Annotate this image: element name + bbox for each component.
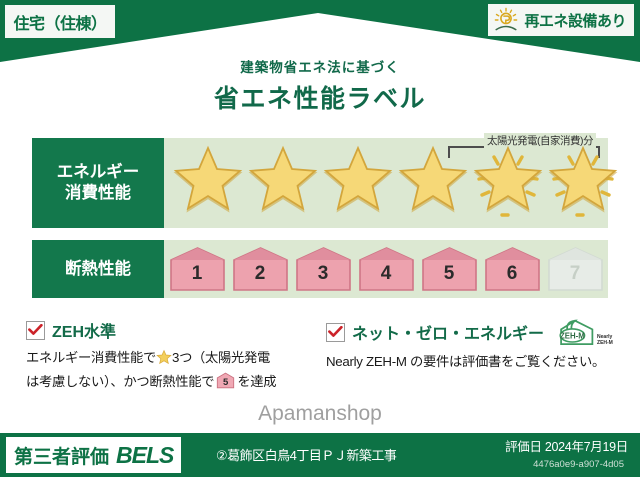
insulation-grade-house-on: 5 <box>419 246 480 292</box>
zeh-standard-panel: ZEH水準 エネルギー消費性能で3つ（太陽光発電 は考慮しない）、かつ断熱性能で… <box>26 318 316 404</box>
insulation-grade-number: 5 <box>419 263 480 285</box>
label-title-block: 建築物省エネ法に基づく 省エネ性能ラベル <box>0 56 640 115</box>
energy-row-label-line2: 消費性能 <box>65 183 131 204</box>
zeh-m-badge-sub: Nearly ZEH-M <box>597 335 613 346</box>
zeh-standard-title: ZEH水準 <box>52 318 116 342</box>
inline-grade-house-icon: 5 <box>216 372 235 388</box>
building-type-badge: 住宅（住棟） <box>5 5 115 38</box>
insulation-grade-number: 4 <box>356 263 417 285</box>
inline-star-icon <box>156 349 172 372</box>
insulation-grade-house-on: 1 <box>167 246 228 292</box>
star-icon <box>322 145 395 221</box>
insulation-grade-scale: 1234567 <box>164 240 608 298</box>
star-rating <box>172 138 616 228</box>
energy-performance-label: 住宅（住棟） 再エネ設備あり 建築物省エネ法に基づく <box>0 0 640 477</box>
zeh-m-house-icon: ZEH-M <box>555 318 595 346</box>
star-icon <box>397 145 470 221</box>
bels-jp-label: 第三者評価 <box>14 442 109 469</box>
building-type-badge-label: 住宅（住棟） <box>13 10 106 34</box>
evaluation-id: 4476a0e9-a907-4d05 <box>533 459 624 470</box>
energy-row-body: 太陽光発電(自家消費)分 <box>164 138 608 228</box>
insulation-row-label: 断熱性能 <box>32 240 164 298</box>
insulation-row-label-text: 断熱性能 <box>65 259 131 280</box>
label-footer: 第三者評価 BELS ②葛飾区白鳥4丁目ＰＪ新築工事 評価日 2024年7月19… <box>0 433 640 477</box>
net-zero-body: Nearly ZEH-M の要件は評価書をご覧ください。 <box>326 352 616 373</box>
evaluation-date: 評価日 2024年7月19日 <box>505 436 628 455</box>
insulation-grade-number: 1 <box>167 263 228 285</box>
star-solar-icon <box>547 145 620 221</box>
net-zero-header: ネット・ゼロ・エネルギー ZEH-M Nearly ZEH-M <box>326 318 616 346</box>
zeh-body-part2: 3つ（太陽光発電 <box>172 350 270 365</box>
watermark: Apamanshop <box>0 402 640 426</box>
insulation-grade-number: 6 <box>482 263 543 285</box>
check-icon <box>28 324 43 336</box>
star-icon <box>247 145 320 221</box>
energy-row-label-line1: エネルギー <box>57 162 140 183</box>
label-main-title: 省エネ性能ラベル <box>0 79 640 115</box>
insulation-grade-house-off: 7 <box>545 246 606 292</box>
star-solar-icon <box>472 145 545 221</box>
star-icon <box>172 145 245 221</box>
zeh-m-badge: ZEH-M Nearly ZEH-M <box>555 318 613 346</box>
renewable-badge-label: 再エネ設備あり <box>524 10 626 31</box>
zeh-body-part1: エネルギー消費性能で <box>26 350 156 365</box>
sun-solar-icon <box>492 6 520 34</box>
insulation-performance-row: 断熱性能 1234567 <box>32 240 608 298</box>
bels-en-label: BELS <box>116 442 173 469</box>
net-zero-energy-panel: ネット・ゼロ・エネルギー ZEH-M Nearly ZEH-M Nearly Z… <box>326 318 616 404</box>
zeh-m-sub-line2: ZEH-M <box>597 340 613 346</box>
zeh-body-part4: を達成 <box>237 374 276 389</box>
insulation-grade-number: 3 <box>293 263 354 285</box>
energy-performance-row: エネルギー 消費性能 太陽光発電(自家消費)分 <box>32 138 608 228</box>
renewable-equipment-badge: 再エネ設備あり <box>488 4 634 36</box>
zeh-standard-checkbox[interactable] <box>26 321 45 340</box>
bels-badge: 第三者評価 BELS <box>6 437 181 473</box>
zeh-body-part3: は考慮しない）、かつ断熱性能で <box>26 374 214 389</box>
insulation-grade-house-on: 6 <box>482 246 543 292</box>
check-icon <box>328 326 343 338</box>
svg-text:ZEH-M: ZEH-M <box>560 331 585 340</box>
insulation-row-body: 1234567 <box>164 240 608 298</box>
zeh-standard-header: ZEH水準 <box>26 318 316 342</box>
insulation-grade-house-on: 4 <box>356 246 417 292</box>
insulation-grade-number: 7 <box>545 263 606 285</box>
insulation-grade-number: 2 <box>230 263 291 285</box>
energy-row-label: エネルギー 消費性能 <box>32 138 164 228</box>
net-zero-checkbox[interactable] <box>326 323 345 342</box>
project-name: ②葛飾区白鳥4丁目ＰＪ新築工事 <box>216 445 396 464</box>
insulation-grade-house-on: 2 <box>230 246 291 292</box>
zeh-standard-body: エネルギー消費性能で3つ（太陽光発電 は考慮しない）、かつ断熱性能で5を達成 <box>26 348 316 392</box>
net-zero-title: ネット・ゼロ・エネルギー <box>352 320 544 344</box>
label-subtitle: 建築物省エネ法に基づく <box>0 56 640 76</box>
insulation-grade-house-on: 3 <box>293 246 354 292</box>
